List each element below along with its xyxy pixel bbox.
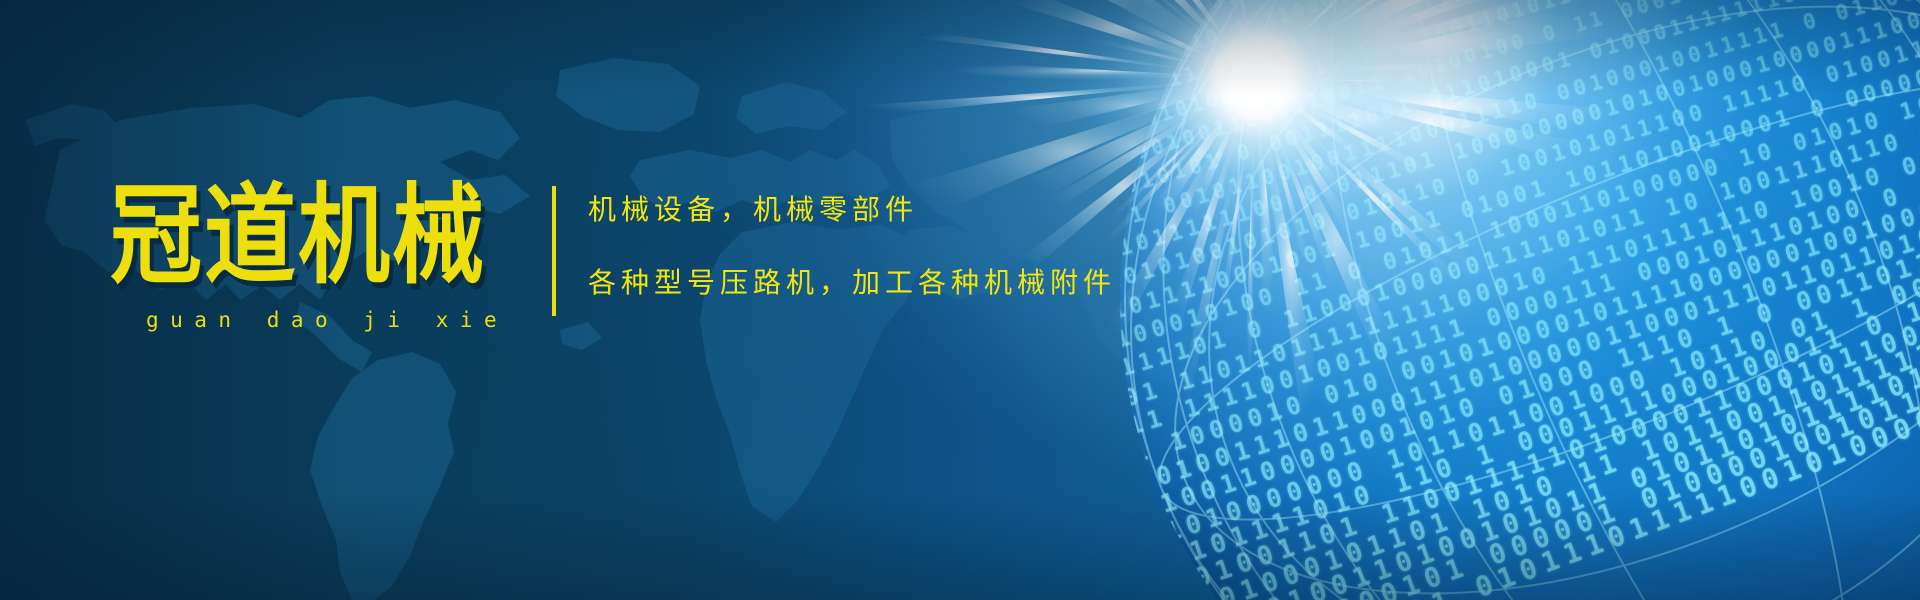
tagline-group: 机械设备，机械零部件 各种型号压路机，加工各种机械附件: [588, 196, 1116, 297]
logo-pinyin: guan dao ji xie: [110, 308, 530, 332]
logo-title: 冠道机械: [110, 182, 530, 291]
banner-root: 0 01 00111101101011000 1010010 1 1101011…: [0, 0, 1920, 600]
tagline-line-2: 各种型号压路机，加工各种机械附件: [588, 269, 1116, 297]
company-logo: 冠道机械 guan dao ji xie: [110, 182, 530, 332]
vertical-divider: [552, 186, 556, 316]
tagline-line-1: 机械设备，机械零部件: [588, 196, 1116, 224]
banner-content: 冠道机械 guan dao ji xie 机械设备，机械零部件 各种型号压路机，…: [0, 0, 1920, 600]
